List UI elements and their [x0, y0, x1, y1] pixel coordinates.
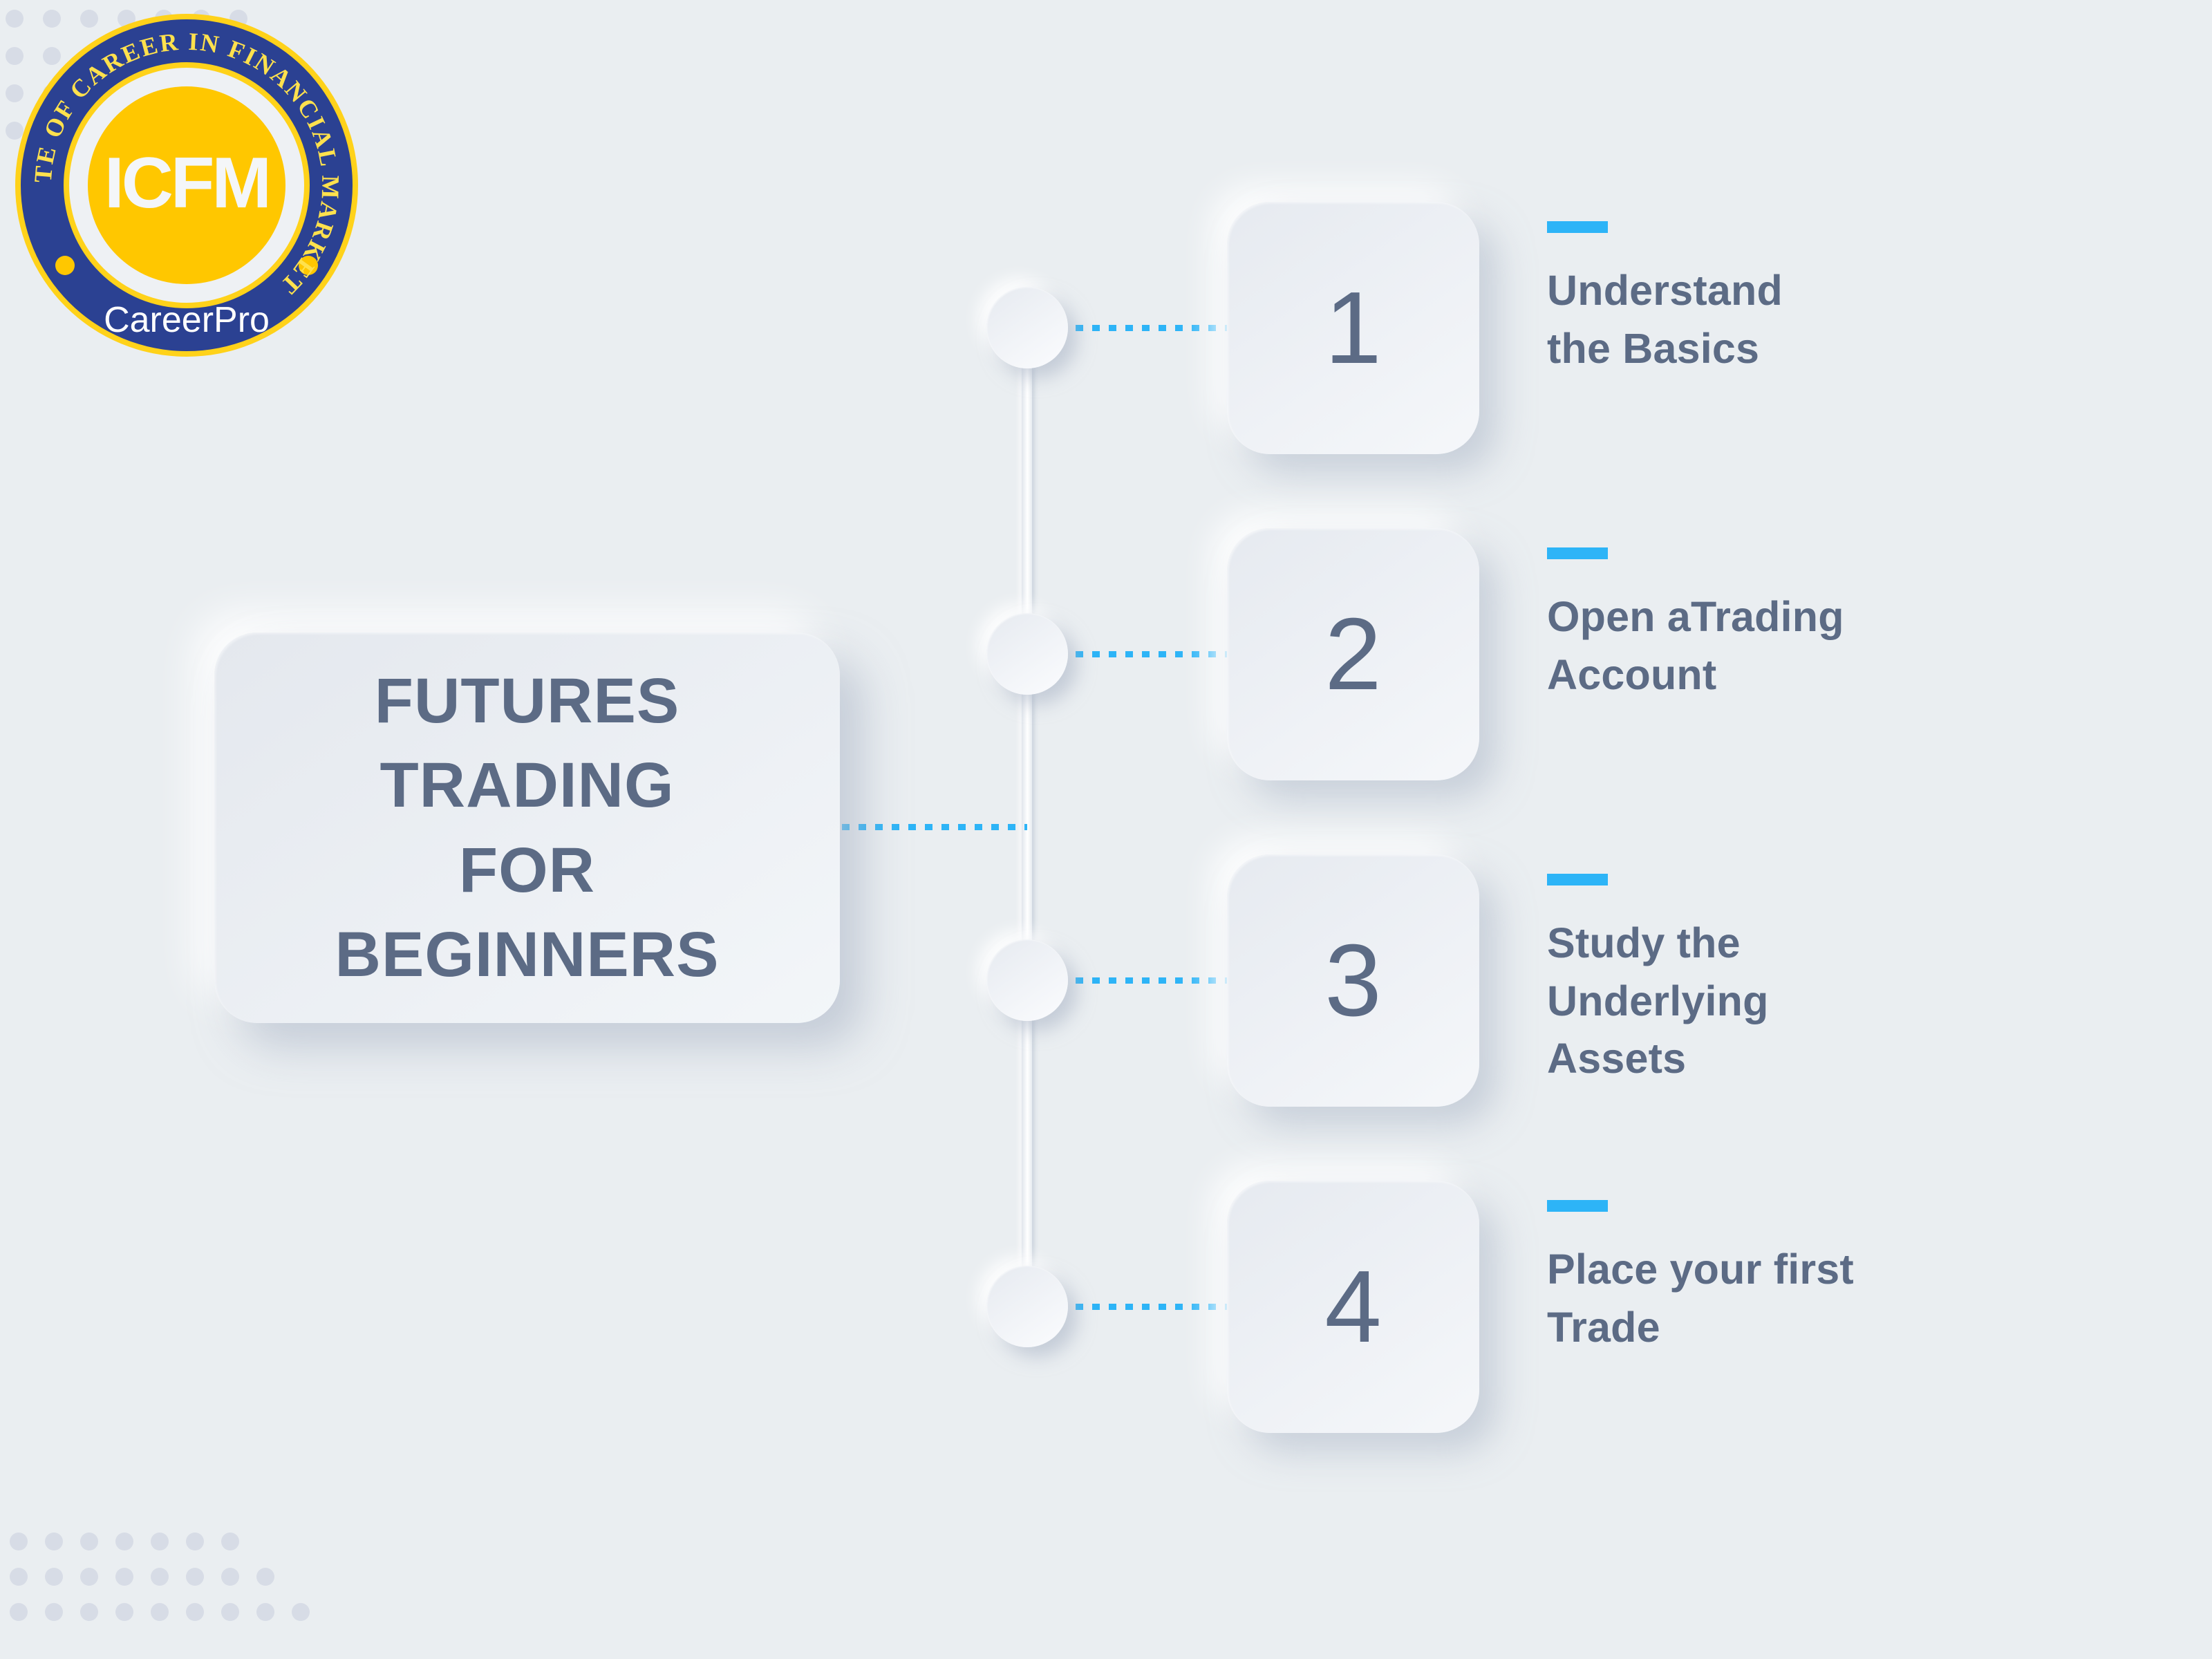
dot [80, 1568, 98, 1586]
timeline-node-1 [986, 287, 1068, 368]
dot [256, 1533, 274, 1550]
dot [186, 1533, 204, 1550]
dot [80, 1533, 98, 1550]
icfm-logo-svg: INSTITUTE OF CAREER IN FINANCIAL MARKET … [7, 6, 366, 365]
dot [10, 1603, 28, 1621]
step-number-card-2[interactable]: 2 [1227, 528, 1479, 780]
connector-node-3 [1076, 977, 1233, 984]
timeline-node-3 [986, 939, 1068, 1021]
dot [221, 1533, 239, 1550]
accent-bar-icon-2 [1547, 547, 1608, 559]
dot [10, 1533, 28, 1550]
dot [292, 1568, 310, 1586]
accent-bar-icon-4 [1547, 1200, 1608, 1212]
dot [292, 1603, 310, 1621]
timeline-spine [1022, 339, 1032, 1334]
connector-node-2 [1076, 651, 1233, 657]
dot [221, 1568, 239, 1586]
step-number-1: 1 [1324, 277, 1381, 379]
decorative-dot-grid-bottom-left [10, 1533, 327, 1638]
dot [115, 1533, 133, 1550]
dot [221, 1603, 239, 1621]
step-number-3: 3 [1324, 930, 1381, 1032]
step-row-4[interactable]: 4 Place your first Trade [1227, 1181, 1854, 1433]
main-title-card: FUTURES TRADING FOR BEGINNERS [214, 632, 840, 1023]
step-row-3[interactable]: 3 Study the Underlying Assets [1227, 854, 1769, 1107]
dot [151, 1603, 169, 1621]
dot [80, 1603, 98, 1621]
connector-title-to-spine [842, 824, 1027, 830]
step-label-2: Open aTrading Account [1547, 588, 1844, 704]
step-label-1: Understand the Basics [1547, 262, 1783, 377]
timeline-node-4 [986, 1266, 1068, 1347]
step-number-2: 2 [1324, 603, 1381, 706]
step-number-card-1[interactable]: 1 [1227, 202, 1479, 454]
step-text-block-2: Open aTrading Account [1547, 528, 1844, 704]
step-label-4: Place your first Trade [1547, 1241, 1854, 1356]
dot [45, 1533, 63, 1550]
step-text-block-4: Place your first Trade [1547, 1181, 1854, 1356]
timeline-node-2 [986, 613, 1068, 695]
connector-node-4 [1076, 1304, 1233, 1310]
dot [292, 1533, 310, 1550]
step-number-card-3[interactable]: 3 [1227, 854, 1479, 1107]
dot [45, 1568, 63, 1586]
dot [186, 1568, 204, 1586]
dot [151, 1568, 169, 1586]
connector-node-1 [1076, 325, 1233, 331]
dot [115, 1568, 133, 1586]
step-row-2[interactable]: 2 Open aTrading Account [1227, 528, 1844, 780]
step-text-block-1: Understand the Basics [1547, 202, 1783, 377]
dot [10, 1568, 28, 1586]
icfm-logo: INSTITUTE OF CAREER IN FINANCIAL MARKET … [7, 6, 366, 365]
accent-bar-icon-3 [1547, 874, 1608, 885]
dot [45, 1603, 63, 1621]
dot [151, 1533, 169, 1550]
dot [186, 1603, 204, 1621]
dot [115, 1603, 133, 1621]
step-text-block-3: Study the Underlying Assets [1547, 854, 1769, 1088]
logo-monogram: ICFM [104, 143, 269, 223]
dot [256, 1603, 274, 1621]
step-label-3: Study the Underlying Assets [1547, 915, 1769, 1088]
accent-bar-icon-1 [1547, 221, 1608, 233]
dot [256, 1568, 274, 1586]
step-number-4: 4 [1324, 1256, 1381, 1358]
page-title: FUTURES TRADING FOR BEGINNERS [335, 659, 720, 997]
step-row-1[interactable]: 1 Understand the Basics [1227, 202, 1783, 454]
logo-tagline: CareerPro [104, 300, 270, 340]
logo-dot-left [55, 256, 75, 275]
step-number-card-4[interactable]: 4 [1227, 1181, 1479, 1433]
